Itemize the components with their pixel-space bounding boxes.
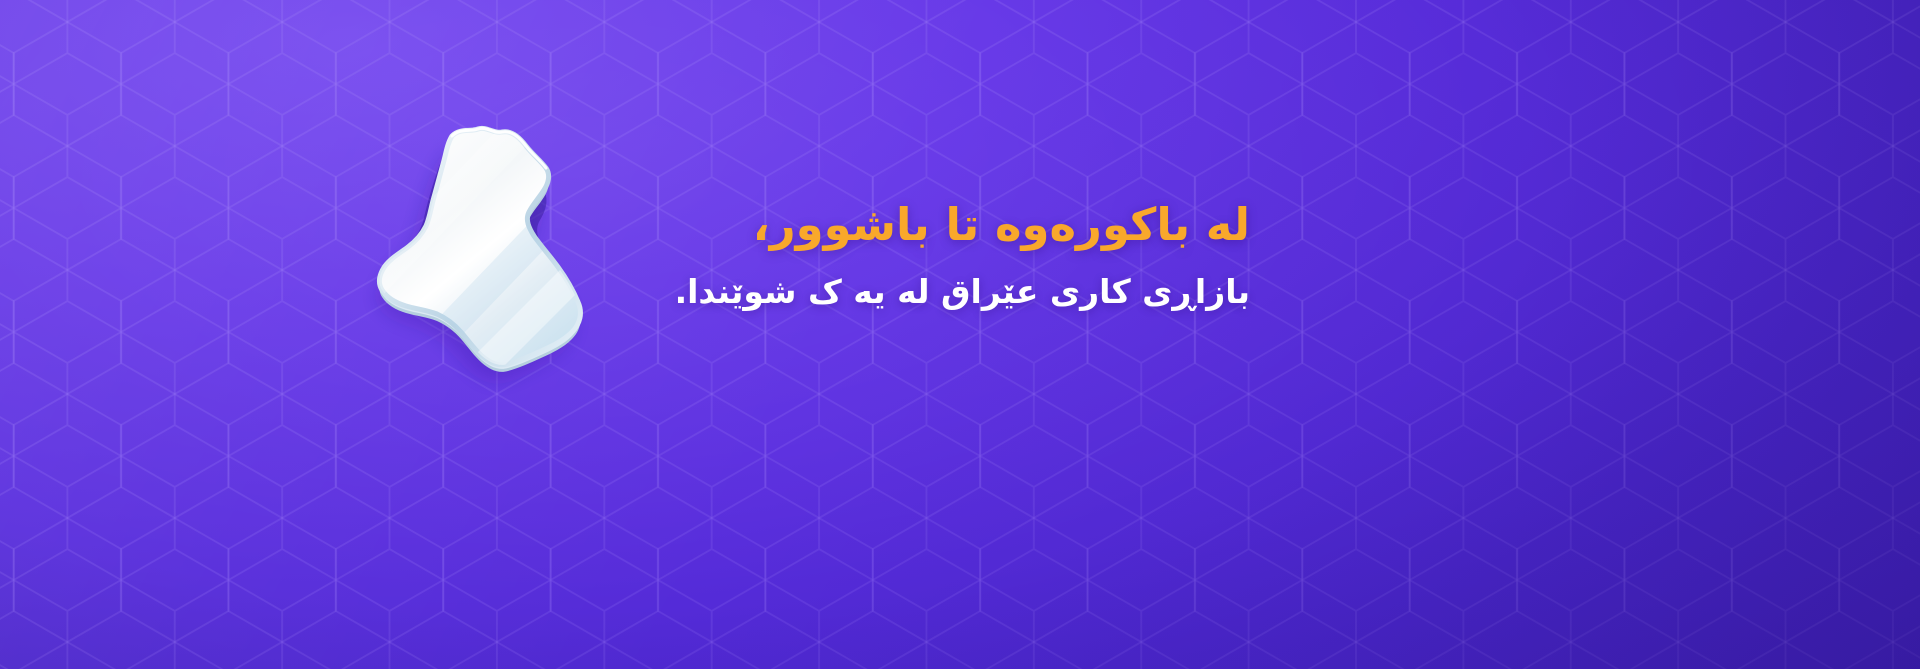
background-vignette xyxy=(0,0,1920,669)
iraq-3d-glass-map xyxy=(330,110,630,410)
hero-copy: له باکورەوه تا باشوور، بازاڕی کاری عێراق… xyxy=(730,196,1250,314)
hero-banner: له باکورەوه تا باشوور، بازاڕی کاری عێراق… xyxy=(0,0,1920,669)
page-subtitle: بازاڕی کاری عێراق له یه ک شوێندا. xyxy=(730,270,1250,315)
background-sheen-overlay xyxy=(0,0,1920,669)
hexagon-honeycomb-pattern xyxy=(0,0,1920,669)
page-title: له باکورەوه تا باشوور، xyxy=(730,196,1250,254)
